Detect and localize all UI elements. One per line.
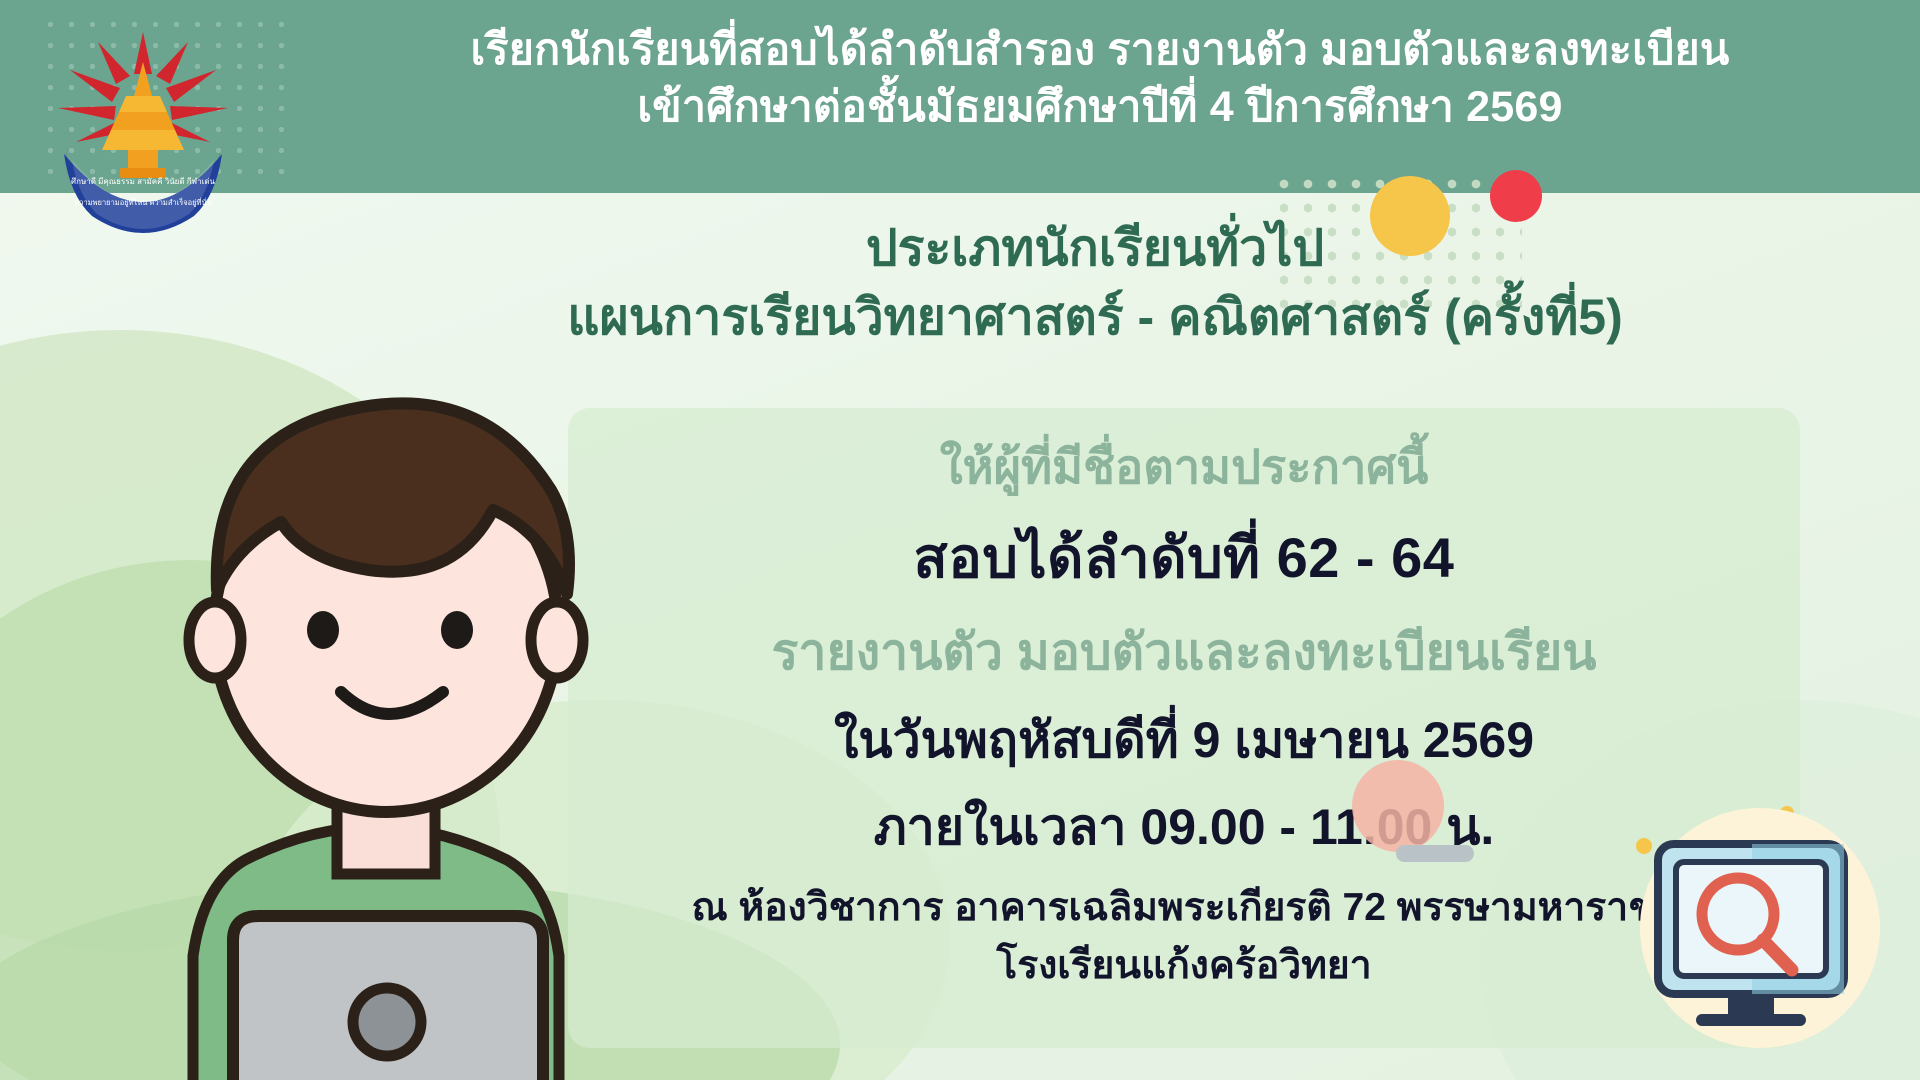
rank-range: สอบได้ลำดับที่ 62 - 64	[568, 521, 1800, 595]
date-line: ในวันพฤหัสบดีที่ 9 เมษายน 2569	[568, 707, 1800, 774]
note-line: ให้ผู้ที่มีชื่อตามประกาศนี้	[568, 436, 1800, 499]
boy-with-laptop-illustration	[105, 300, 665, 1080]
school-emblem: ศึกษาดี มีคุณธรรม สามัคคี วินัยดี กีฬาเด…	[48, 26, 238, 261]
banner-line-2: เข้าศึกษาต่อชั้นมัธยมศึกษาปีที่ 4 ปีการศ…	[300, 79, 1900, 136]
monitor-magnifier-icon	[1610, 800, 1880, 1050]
student-type-heading: ประเภทนักเรียนทั่วไป	[330, 214, 1860, 282]
banner-line-1: เรียกนักเรียนที่สอบได้ลำดับสำรอง รายงานต…	[300, 22, 1900, 79]
emblem-motto-top: ศึกษาดี มีคุณธรรม สามัคคี วินัยดี กีฬาเด…	[71, 177, 216, 186]
header-text-block: เรียกนักเรียนที่สอบได้ลำดับสำรอง รายงานต…	[300, 22, 1900, 136]
report-line: รายงานตัว มอบตัวและลงทะเบียนเรียน	[568, 619, 1800, 686]
poster-canvas: เรียกนักเรียนที่สอบได้ลำดับสำรอง รายงานต…	[0, 0, 1920, 1080]
peach-circle-decoration	[1352, 760, 1444, 852]
emblem-motto-bottom: ความพยายามอยู่ที่ไหน ความสำเร็จอยู่ที่นั…	[74, 197, 212, 207]
grey-bar-decoration	[1396, 845, 1474, 862]
